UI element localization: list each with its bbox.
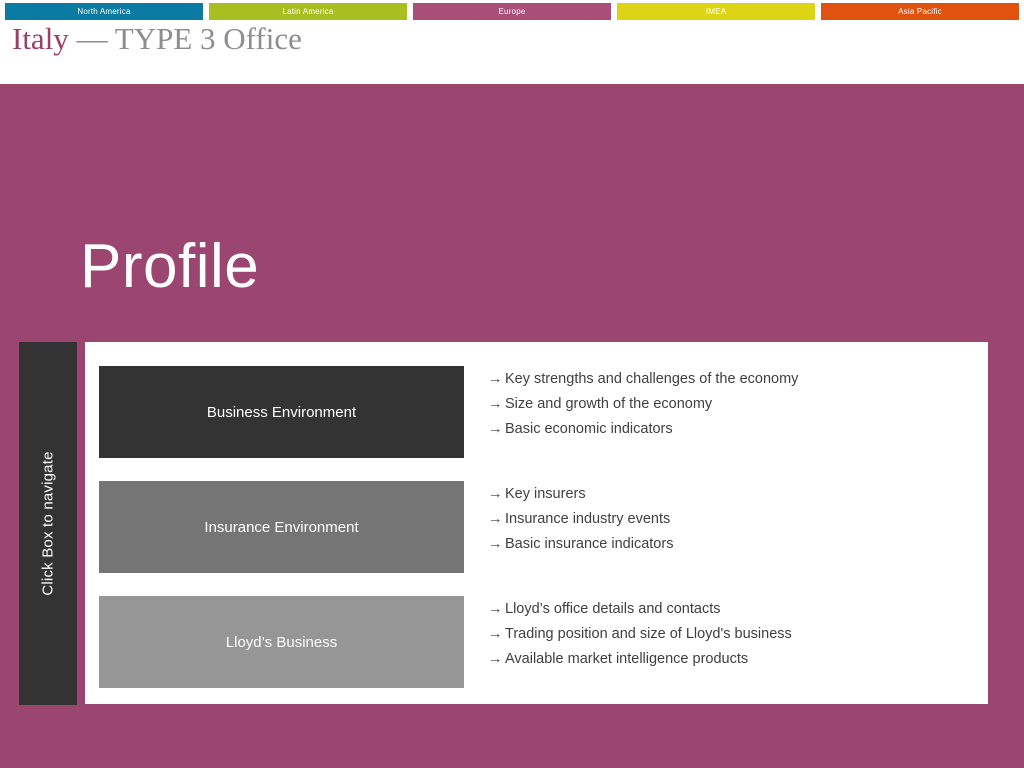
list-item-label: Size and growth of the economy	[505, 392, 712, 417]
section-box-insurance-environment[interactable]: Insurance Environment	[99, 481, 464, 573]
side-nav-tab-label: Click Box to navigate	[40, 451, 57, 595]
arrow-right-icon: →	[488, 392, 505, 417]
list-item-label: Basic insurance indicators	[505, 532, 673, 557]
list-item: → Basic economic indicators	[488, 417, 974, 442]
list-item: → Key strengths and challenges of the ec…	[488, 367, 974, 392]
list-item-label: Key insurers	[505, 482, 586, 507]
list-item-label: Key strengths and challenges of the econ…	[505, 367, 798, 392]
arrow-right-icon: →	[488, 507, 505, 532]
arrow-right-icon: →	[488, 532, 505, 557]
list-item-label: Insurance industry events	[505, 507, 670, 532]
section-box-label: Lloyd’s Business	[226, 634, 337, 651]
list-item: → Trading position and size of Lloyd's b…	[488, 622, 974, 647]
arrow-right-icon: →	[488, 367, 505, 392]
section-row: Business Environment → Key strengths and…	[99, 366, 974, 458]
arrow-right-icon: →	[488, 482, 505, 507]
region-tab-north-america[interactable]: North America	[5, 3, 203, 20]
region-tab-label: Asia Pacific	[898, 7, 942, 16]
list-item: → Lloyd’s office details and contacts	[488, 597, 974, 622]
list-item-label: Lloyd’s office details and contacts	[505, 597, 721, 622]
section-bullets-lloyds-business: → Lloyd’s office details and contacts → …	[488, 597, 974, 672]
arrow-right-icon: →	[488, 647, 505, 672]
section-row: Insurance Environment → Key insurers → I…	[99, 481, 974, 573]
section-box-label: Insurance Environment	[204, 519, 358, 536]
arrow-right-icon: →	[488, 597, 505, 622]
slide-title-country: Italy	[12, 21, 69, 56]
section-box-lloyds-business[interactable]: Lloyd’s Business	[99, 596, 464, 688]
section-box-business-environment[interactable]: Business Environment	[99, 366, 464, 458]
page-title: Profile	[80, 232, 259, 302]
list-item: → Basic insurance indicators	[488, 532, 974, 557]
section-row: Lloyd’s Business → Lloyd’s office detail…	[99, 596, 974, 688]
list-item: → Key insurers	[488, 482, 974, 507]
region-tab-label: IMEA	[706, 7, 726, 16]
region-tab-label: Europe	[499, 7, 526, 16]
list-item: → Available market intelligence products	[488, 647, 974, 672]
region-tab-latin-america[interactable]: Latin America	[209, 3, 407, 20]
arrow-right-icon: →	[488, 622, 505, 647]
slide-title-subtitle: TYPE 3 Office	[115, 21, 302, 56]
list-item-label: Basic economic indicators	[505, 417, 673, 442]
section-bullets-business-environment: → Key strengths and challenges of the ec…	[488, 367, 974, 442]
list-item: → Size and growth of the economy	[488, 392, 974, 417]
list-item-label: Trading position and size of Lloyd's bus…	[505, 622, 792, 647]
arrow-right-icon: →	[488, 417, 505, 442]
region-tab-strip: North America Latin America Europe IMEA …	[5, 3, 1019, 20]
slide-title: Italy — TYPE 3 Office	[12, 20, 302, 58]
region-tab-asia-pacific[interactable]: Asia Pacific	[821, 3, 1019, 20]
list-item: → Insurance industry events	[488, 507, 974, 532]
slide-title-separator: —	[69, 21, 115, 56]
region-tab-imea[interactable]: IMEA	[617, 3, 815, 20]
section-box-label: Business Environment	[207, 404, 356, 421]
side-nav-tab[interactable]: Click Box to navigate	[19, 342, 77, 705]
region-tab-label: North America	[77, 7, 130, 16]
content-panel: Business Environment → Key strengths and…	[85, 342, 988, 704]
region-tab-europe[interactable]: Europe	[413, 3, 611, 20]
section-bullets-insurance-environment: → Key insurers → Insurance industry even…	[488, 482, 974, 557]
region-tab-label: Latin America	[282, 7, 333, 16]
list-item-label: Available market intelligence products	[505, 647, 748, 672]
